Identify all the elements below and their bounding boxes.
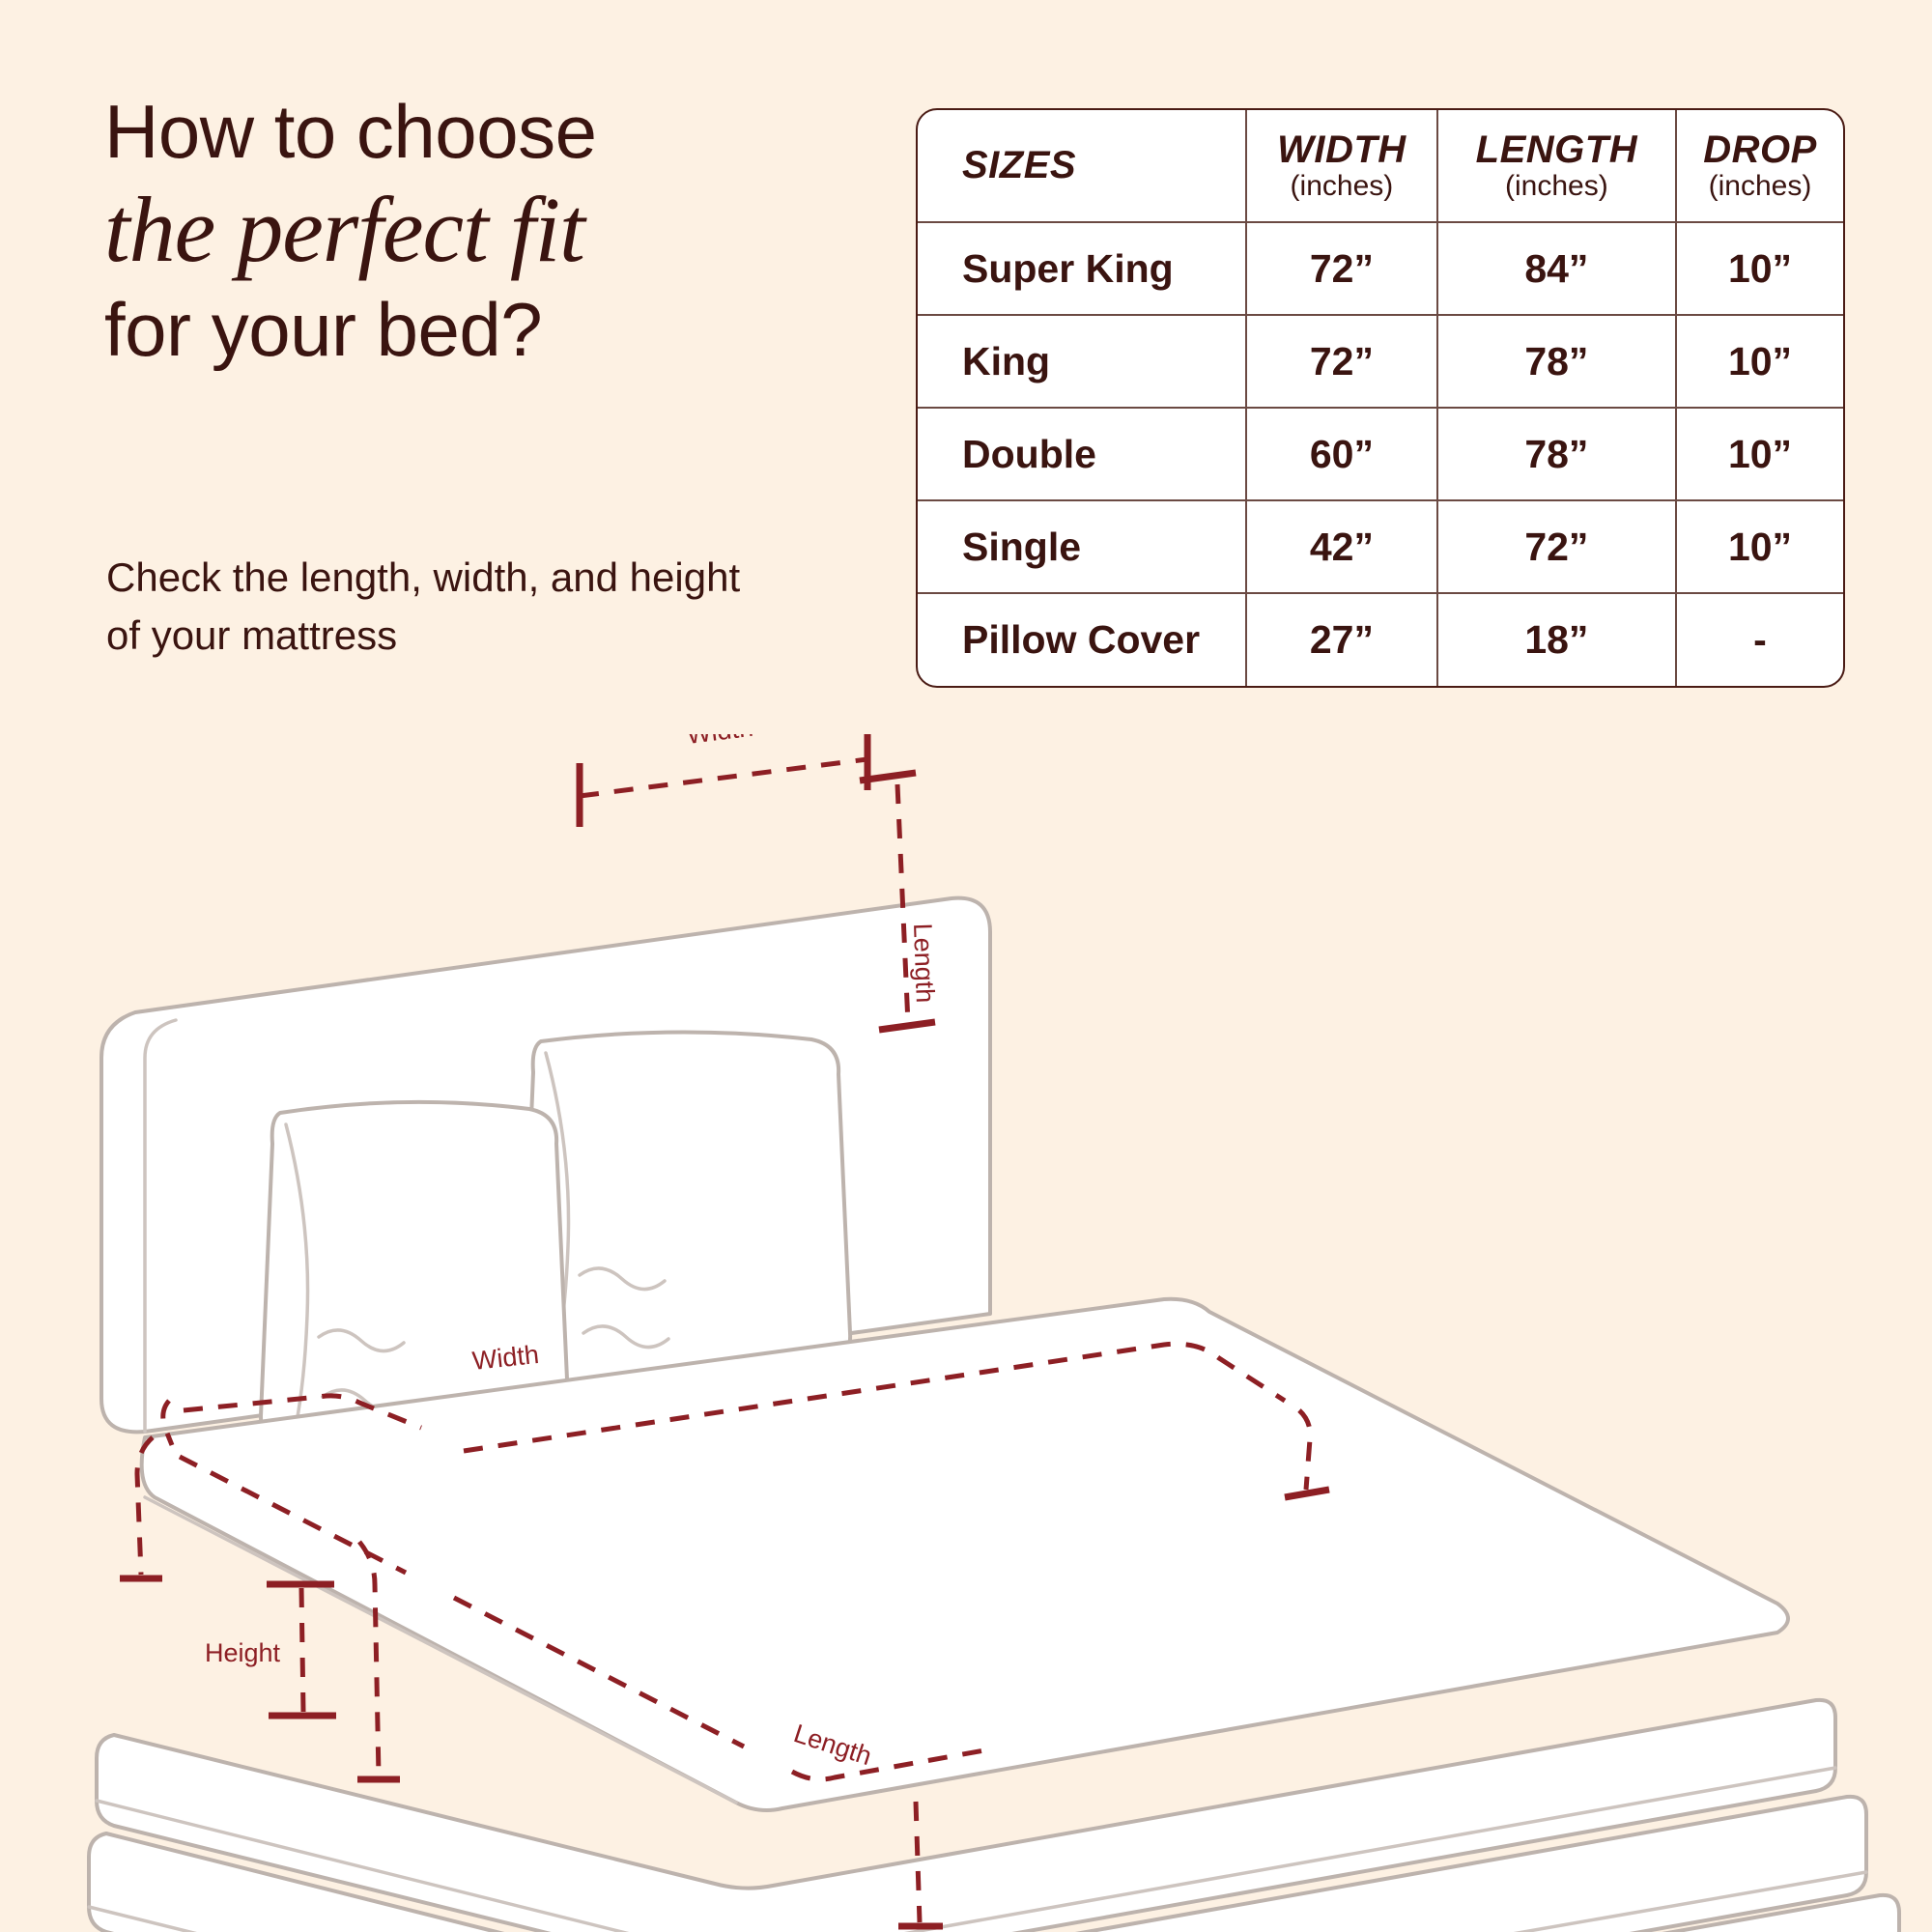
column-header-width-label: WIDTH (1247, 128, 1436, 172)
column-header-length-label: LENGTH (1438, 128, 1675, 172)
cell-drop: 10” (1676, 500, 1843, 593)
cell-drop: - (1676, 593, 1843, 686)
cell-drop: 10” (1676, 222, 1843, 315)
dimension-mattress-height: Height (205, 1584, 336, 1716)
size-chart-table: SIZES WIDTH (inches) LENGTH (inches) DRO… (916, 108, 1845, 688)
cell-length: 84” (1437, 222, 1676, 315)
dimension-pillow-width: Width (580, 734, 867, 827)
cell-width: 42” (1246, 500, 1437, 593)
cell-size: Pillow Cover (918, 593, 1246, 686)
cell-length: 72” (1437, 500, 1676, 593)
label-pillow-width: Width (685, 734, 754, 750)
table-row: Super King 72” 84” 10” (918, 222, 1843, 315)
column-header-width: WIDTH (inches) (1246, 110, 1437, 222)
cell-length: 78” (1437, 315, 1676, 408)
table-row: Single 42” 72” 10” (918, 500, 1843, 593)
label-pillow-length: Length (908, 923, 940, 1004)
column-header-width-unit: (inches) (1247, 170, 1436, 203)
cell-size: Single (918, 500, 1246, 593)
column-header-drop: DROP (inches) (1676, 110, 1843, 222)
infographic-canvas: How to choose the perfect fit for your b… (0, 0, 1932, 1932)
page-title: How to choose the perfect fit for your b… (104, 85, 838, 375)
cell-length: 78” (1437, 408, 1676, 500)
column-header-drop-label: DROP (1677, 128, 1843, 172)
column-header-sizes: SIZES (918, 110, 1246, 222)
column-header-drop-unit: (inches) (1677, 170, 1843, 203)
table-row: Pillow Cover 27” 18” - (918, 593, 1843, 686)
label-mattress-height: Height (205, 1638, 281, 1667)
cell-length: 18” (1437, 593, 1676, 686)
cell-width: 72” (1246, 315, 1437, 408)
subtitle-text: Check the length, width, and height of y… (106, 549, 782, 665)
cell-width: 27” (1246, 593, 1437, 686)
cell-size: Double (918, 408, 1246, 500)
cell-size: King (918, 315, 1246, 408)
table-row: Double 60” 78” 10” (918, 408, 1843, 500)
cell-width: 72” (1246, 222, 1437, 315)
title-line-3: for your bed? (104, 284, 838, 375)
title-line-1: How to choose (104, 85, 838, 178)
table-row: King 72” 78” 10” (918, 315, 1843, 408)
cell-width: 60” (1246, 408, 1437, 500)
column-header-length: LENGTH (inches) (1437, 110, 1676, 222)
title-line-2-emphasis: the perfect fit (104, 180, 838, 280)
cell-drop: 10” (1676, 408, 1843, 500)
cell-size: Super King (918, 222, 1246, 315)
bed-diagram: .ln { fill:none; stroke:#bdb3ad; stroke-… (0, 734, 1932, 1932)
column-header-sizes-label: SIZES (962, 144, 1245, 187)
cell-drop: 10” (1676, 315, 1843, 408)
table-header-row: SIZES WIDTH (inches) LENGTH (inches) DRO… (918, 110, 1843, 222)
column-header-length-unit: (inches) (1438, 170, 1675, 203)
